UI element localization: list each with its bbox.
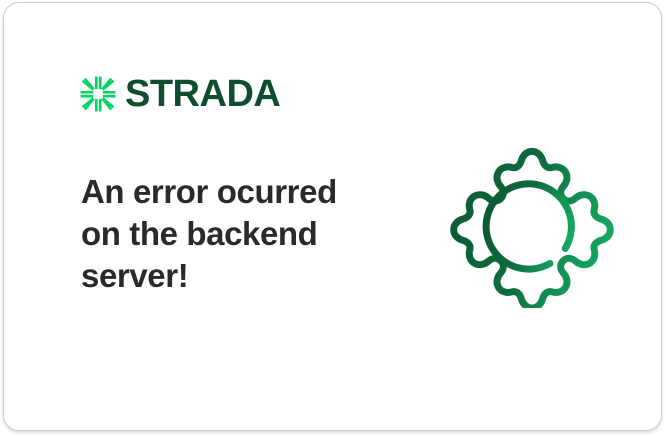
error-message: An error ocurred on the backend server! <box>81 171 381 297</box>
error-card: STRADA An error ocurred on the backend s… <box>3 2 662 431</box>
brand-name: STRADA <box>125 75 280 113</box>
brand-logo: STRADA <box>80 73 280 115</box>
error-page: STRADA An error ocurred on the backend s… <box>0 0 666 436</box>
strada-asterisk-icon <box>80 76 116 112</box>
